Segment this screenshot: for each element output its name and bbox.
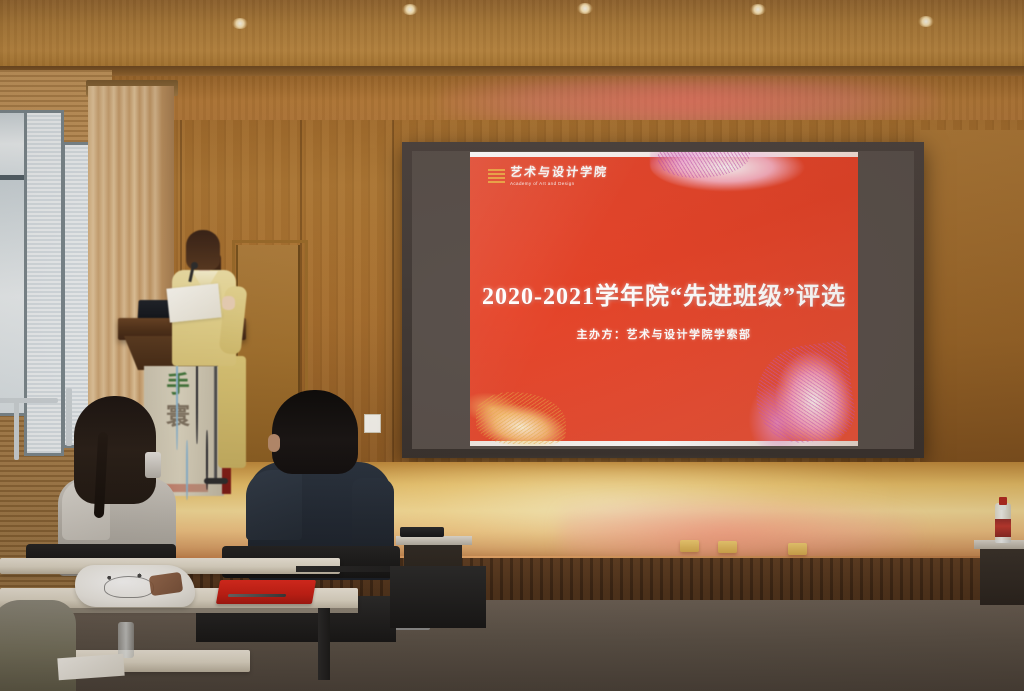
- stage-block: [788, 543, 807, 555]
- logo-chinese-name: 艺术与设计学院: [509, 166, 608, 179]
- foreground-bottle: [118, 622, 134, 658]
- foreground-paper: [57, 654, 124, 681]
- logo-english-name: Academy of Art and Design: [510, 180, 608, 187]
- downlight-icon: [577, 3, 593, 14]
- speaker-lower-garment: [218, 356, 246, 468]
- microphone-icon: [191, 262, 198, 269]
- stage-block: [718, 541, 737, 553]
- desk-side-panel: [390, 566, 486, 628]
- window-railing-post: [14, 398, 19, 460]
- audience-man-ear: [268, 434, 280, 452]
- stripes-logo-icon: [488, 169, 505, 185]
- ceiling-upper: [0, 0, 1024, 72]
- laptop-on-side-table: [400, 527, 444, 537]
- auditorium-photo: 艺术与设计学院 Academy of Art and Design 2020-2…: [0, 0, 1024, 691]
- audience-woman-phone: [145, 452, 161, 478]
- wall-notice: [364, 414, 381, 433]
- academy-logo: 艺术与设计学院 Academy of Art and Design: [488, 166, 608, 187]
- audience-man-shoulder: [246, 470, 302, 540]
- window-railing: [0, 398, 58, 403]
- side-table-left: [396, 536, 472, 545]
- window-blind-panel-1: [24, 110, 64, 456]
- bottle-cap: [999, 497, 1007, 505]
- audience-man-hair: [272, 390, 358, 474]
- room-floor: [0, 600, 1024, 691]
- ceiling-wood-grain: [0, 0, 1024, 72]
- speaker-hand: [222, 296, 235, 310]
- downlight-icon: [750, 4, 766, 15]
- downlight-icon: [232, 18, 248, 29]
- presentation-slide: 艺术与设计学院 Academy of Art and Design 2020-2…: [470, 152, 858, 446]
- pen-on-folder: [228, 594, 287, 597]
- slide-title: 2020-2021学年院“先进班级”评选: [470, 276, 858, 311]
- water-bottle: [995, 495, 1011, 543]
- audience-woman-hair: [74, 396, 156, 504]
- window-railing-post: [66, 388, 72, 446]
- downlight-icon: [402, 4, 418, 15]
- desk-leg: [318, 608, 330, 680]
- audio-cable: [186, 440, 188, 500]
- downlight-icon: [918, 16, 934, 27]
- cloth-bag-print-outline: [104, 576, 154, 598]
- speaker-papers: [166, 283, 221, 322]
- power-cable: [206, 430, 208, 490]
- wall-panel-seam: [392, 120, 394, 480]
- side-table-right-leg: [980, 549, 1024, 605]
- stage-block: [680, 540, 699, 552]
- wall-panel-right: [920, 130, 1024, 480]
- red-folder: [216, 580, 316, 604]
- bottle-label: [995, 519, 1011, 537]
- slide-subtitle: 主办方：艺术与设计学院学索部: [470, 326, 858, 342]
